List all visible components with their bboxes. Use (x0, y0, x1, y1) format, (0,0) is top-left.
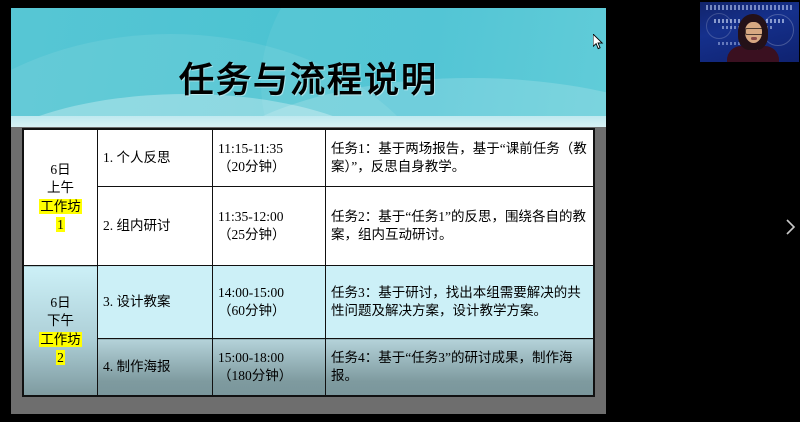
time-duration: （25分钟） (218, 226, 320, 244)
backdrop-banner-text (706, 5, 793, 10)
workshop-number-highlight: 2 (56, 350, 65, 365)
time-cell: 11:15-11:35 （20分钟） (213, 129, 326, 187)
time-range: 11:15-11:35 (218, 140, 320, 158)
task-description: 任务4：基于“任务3”的研讨成果，制作海报。 (326, 339, 595, 397)
workshop-label-highlight: 工作坊 (39, 332, 82, 347)
time-duration: （60分钟） (218, 302, 320, 320)
slide-title: 任务与流程说明 (11, 52, 606, 103)
time-cell: 11:35-12:00 （25分钟） (213, 187, 326, 266)
time-range: 14:00-15:00 (218, 284, 320, 302)
mouse-cursor (593, 34, 604, 50)
activity-name: 4. 制作海报 (98, 339, 213, 397)
session-day: 6日 (29, 161, 92, 179)
table-row: 2. 组内研讨 11:35-12:00 （25分钟） 任务2：基于“任务1”的反… (23, 187, 594, 266)
schedule-table: 6日 上午 工作坊 1 1. 个人反思 11:15-11:35 （20分钟） 任… (22, 128, 595, 397)
presenter-video-thumbnail[interactable] (700, 2, 799, 62)
presenter-mouth (751, 37, 757, 40)
chevron-right-icon[interactable] (784, 218, 798, 236)
time-range: 11:35-12:00 (218, 208, 320, 226)
slide-canvas: 任务与流程说明 6日 上午 工作坊 1 1. 个人反思 11:15-11:35 … (11, 8, 606, 414)
table-row: 6日 下午 工作坊 2 3. 设计教案 14:00-15:00 （60分钟） 任… (23, 266, 594, 339)
time-range: 15:00-18:00 (218, 349, 320, 367)
workshop-number-highlight: 1 (56, 217, 65, 232)
presentation-screen: 任务与流程说明 6日 上午 工作坊 1 1. 个人反思 11:15-11:35 … (0, 0, 800, 422)
activity-name: 2. 组内研讨 (98, 187, 213, 266)
session-label-afternoon: 6日 下午 工作坊 2 (23, 266, 98, 397)
task-description: 任务3：基于研讨，找出本组需要解决的共性问题及解决方案，设计教学方案。 (326, 266, 595, 339)
time-cell: 14:00-15:00 （60分钟） (213, 266, 326, 339)
table-row: 6日 上午 工作坊 1 1. 个人反思 11:15-11:35 （20分钟） 任… (23, 129, 594, 187)
activity-name: 3. 设计教案 (98, 266, 213, 339)
time-duration: （20分钟） (218, 158, 320, 176)
session-label-morning: 6日 上午 工作坊 1 (23, 129, 98, 266)
slide-title-banner: 任务与流程说明 (11, 8, 606, 122)
activity-name: 1. 个人反思 (98, 129, 213, 187)
workshop-label-highlight: 工作坊 (39, 199, 82, 214)
task-description: 任务1：基于两场报告，基于“课前任务（教案）”，反思自身教学。 (326, 129, 595, 187)
glasses-icon (745, 28, 764, 35)
time-cell: 15:00-18:00 （180分钟） (213, 339, 326, 397)
table-row: 4. 制作海报 15:00-18:00 （180分钟） 任务4：基于“任务3”的… (23, 339, 594, 397)
time-duration: （180分钟） (218, 367, 320, 385)
session-period: 上午 (29, 179, 92, 197)
session-day: 6日 (29, 294, 92, 312)
task-description: 任务2：基于“任务1”的反思，围绕各自的教案，组内互动研讨。 (326, 187, 595, 266)
session-period: 下午 (29, 312, 92, 330)
